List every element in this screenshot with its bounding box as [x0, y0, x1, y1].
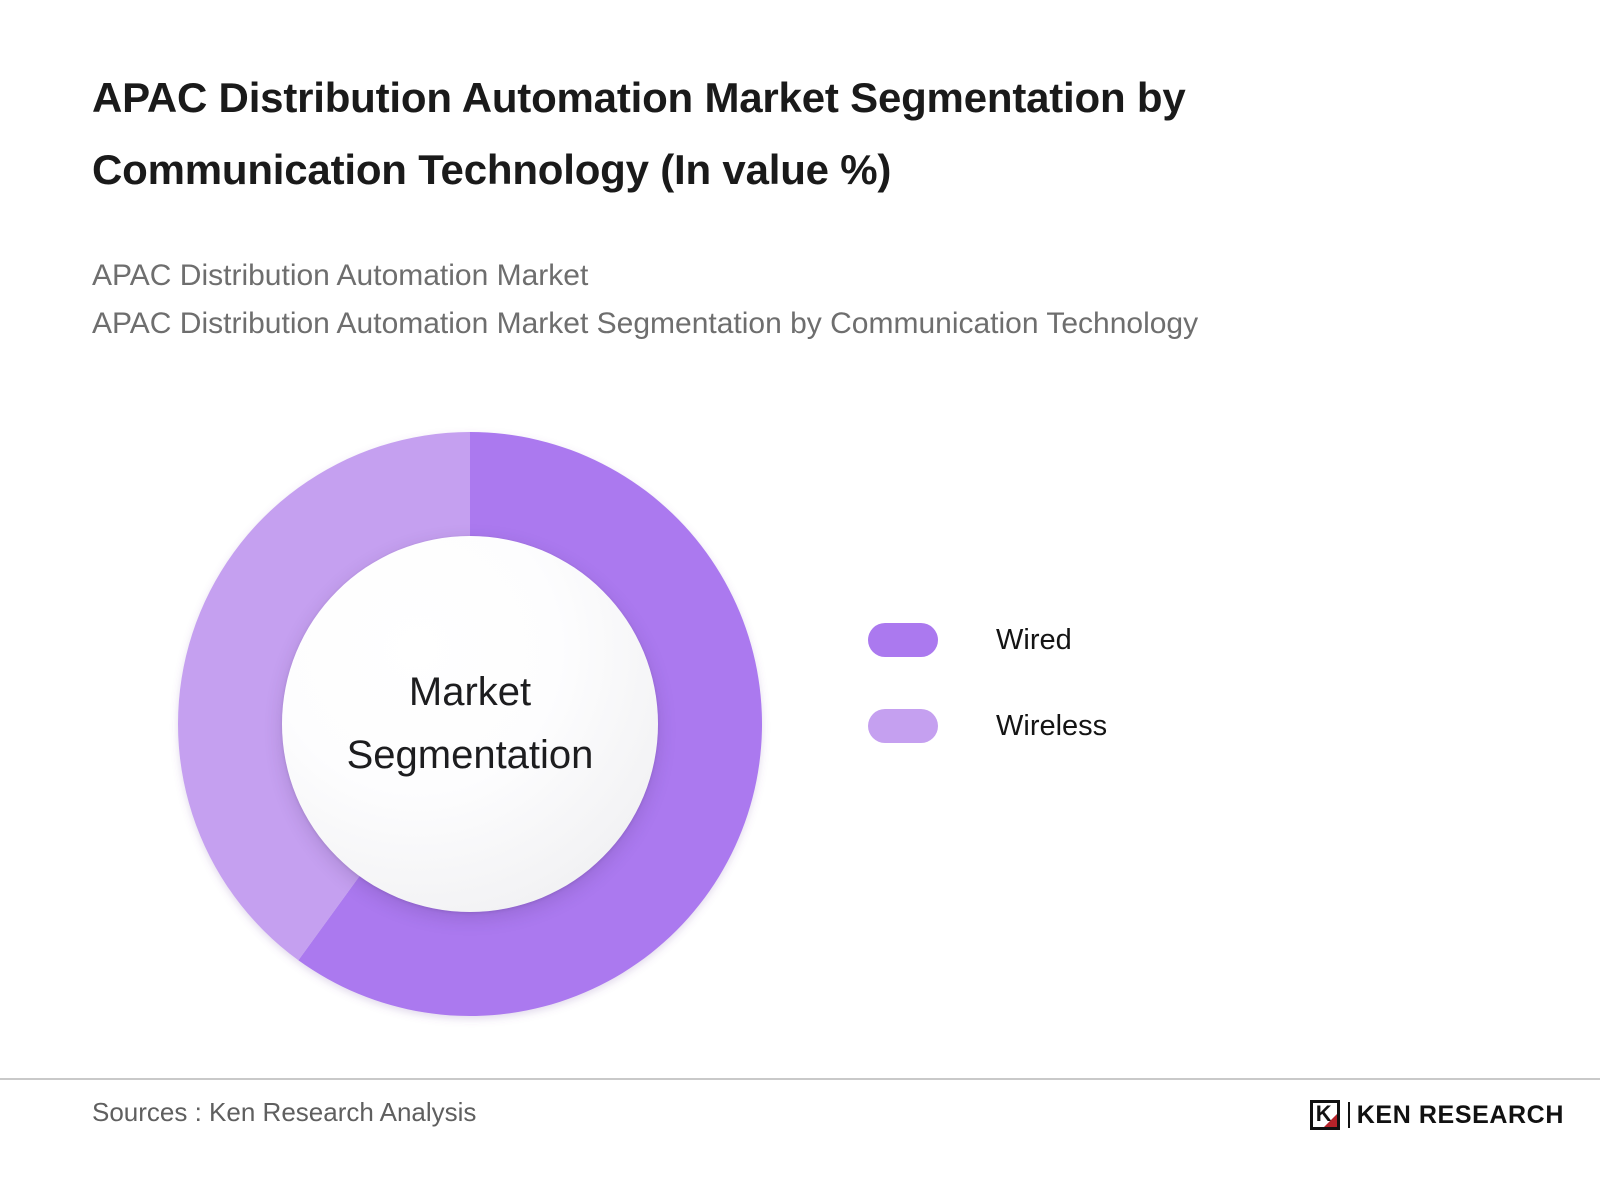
page-title: APAC Distribution Automation Market Segm… [92, 62, 1492, 206]
brand-wordmark: KEN RESEARCH [1357, 1101, 1564, 1130]
legend-item-wireless[interactable]: Wireless [868, 704, 1107, 748]
page-title-line-1: APAC Distribution Automation Market Segm… [92, 62, 1492, 134]
footer-divider [0, 1078, 1600, 1080]
page-subtitle-line-2: APAC Distribution Automation Market Segm… [92, 300, 1532, 348]
donut-center-label: Market Segmentation [347, 661, 594, 787]
ken-research-k-mark-icon: K [1310, 1100, 1340, 1130]
donut-center-label-line-2: Segmentation [347, 724, 594, 787]
page-subtitle-line-1: APAC Distribution Automation Market [92, 252, 1532, 300]
legend-swatch-icon-wireless [868, 709, 938, 743]
chart-area: Market Segmentation Wired Wireless [0, 380, 1600, 1060]
legend-label-wired: Wired [996, 624, 1072, 657]
brand-divider-icon [1348, 1102, 1350, 1128]
page-subtitle: APAC Distribution Automation Market APAC… [92, 252, 1532, 348]
donut-chart: Market Segmentation [178, 432, 762, 1016]
page-title-line-2: Communication Technology (In value %) [92, 134, 1492, 206]
brand-triangle-icon [1324, 1114, 1337, 1127]
footer-source-text: Sources : Ken Research Analysis [92, 1097, 476, 1128]
ken-research-logo: K KEN RESEARCH [1310, 1098, 1564, 1132]
donut-center-label-line-1: Market [347, 661, 594, 724]
chart-legend: Wired Wireless [868, 618, 1107, 748]
slide-canvas: APAC Distribution Automation Market Segm… [0, 0, 1600, 1200]
legend-label-wireless: Wireless [996, 710, 1107, 743]
legend-swatch-icon-wired [868, 623, 938, 657]
donut-center-hub: Market Segmentation [282, 536, 658, 912]
legend-item-wired[interactable]: Wired [868, 618, 1107, 662]
